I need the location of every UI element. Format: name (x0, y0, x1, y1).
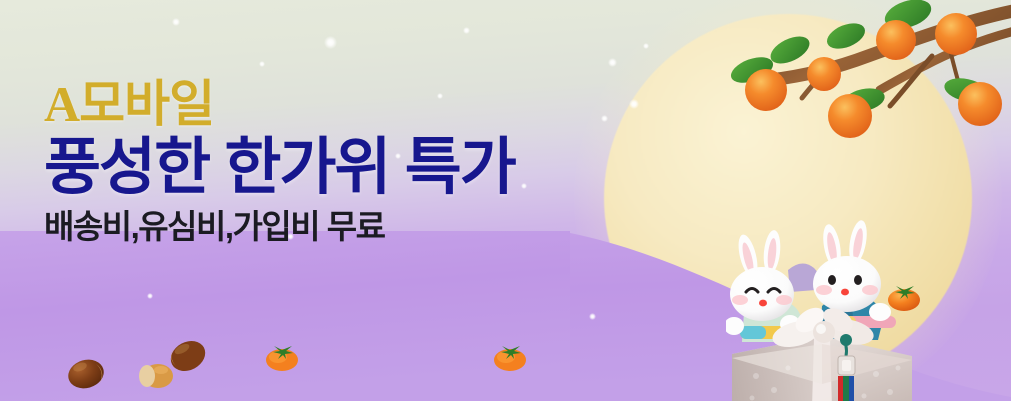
chestnut-1 (62, 352, 112, 392)
chestnut-3 (164, 336, 214, 376)
promo-subcopy: 배송비,유심비,가입비 무료 (44, 209, 604, 245)
sparkle-3 (259, 61, 265, 67)
sparkle-4 (463, 27, 470, 34)
brand-title: A모바일 (44, 78, 604, 130)
persimmon-branch (718, 0, 1011, 144)
rabbits-and-gift-scene (726, 208, 916, 401)
sparkle-6 (608, 58, 617, 67)
persimmon-ground-1 (262, 338, 302, 372)
brand-letter: A (44, 76, 79, 132)
brand-word: 모바일 (79, 76, 214, 132)
sparkle-2 (172, 18, 180, 26)
page-title: 풍성한 한가위 특가 (44, 136, 604, 199)
promo-copy-block: A모바일 풍성한 한가위 특가 배송비,유심비,가입비 무료 (44, 78, 604, 246)
sparkle-1 (324, 36, 337, 49)
persimmon-ground-2 (490, 338, 530, 372)
chuseok-promo-banner: A모바일 풍성한 한가위 특가 배송비,유심비,가입비 무료 (0, 0, 1011, 401)
